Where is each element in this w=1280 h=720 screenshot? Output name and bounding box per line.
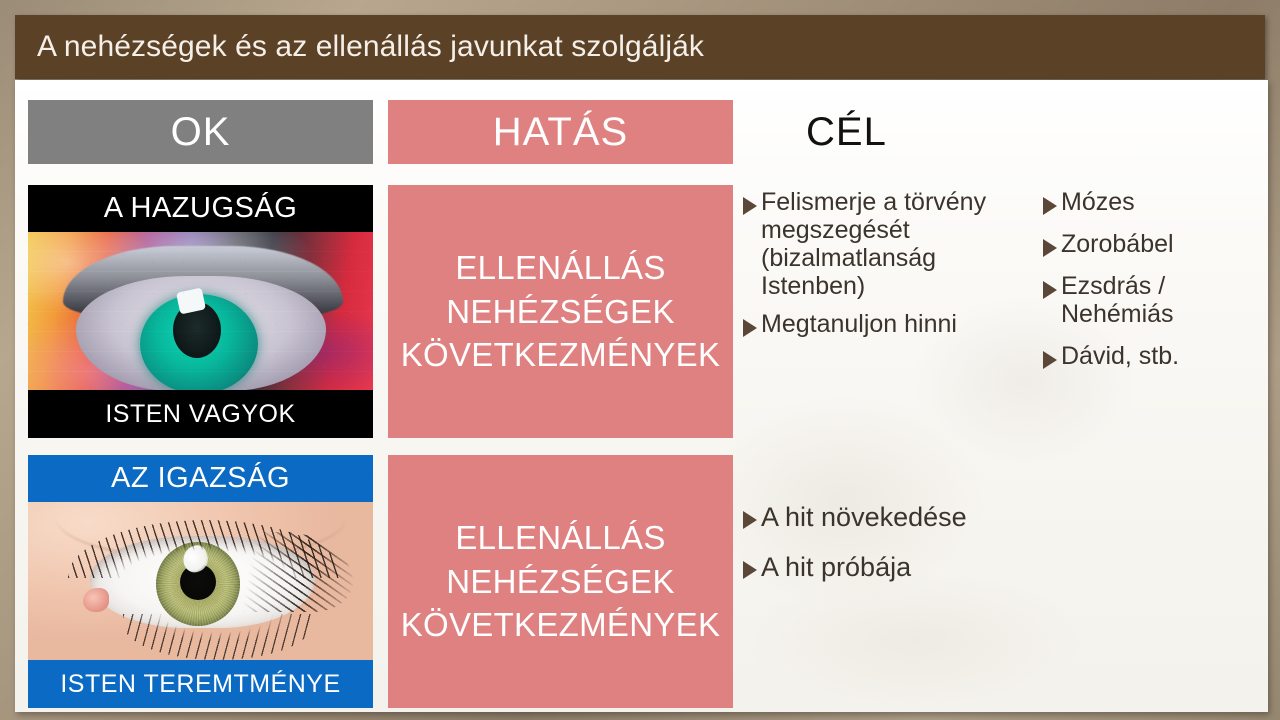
- list-item: A hit növekedése: [743, 502, 1063, 532]
- triangle-bullet-icon: [743, 319, 757, 337]
- lowpoly-eye-image: [28, 232, 373, 390]
- list-item-label: Felismerje a törvény megszegését (bizalm…: [761, 188, 1033, 300]
- cel-primary-list-row1: Felismerje a törvény megszegését (bizalm…: [743, 188, 1033, 348]
- green-eye-photo: [28, 502, 373, 660]
- column-header-hatas: HATÁS: [388, 100, 733, 164]
- triangle-bullet-icon: [743, 561, 757, 579]
- column-header-ok: OK: [28, 100, 373, 164]
- hatas-card-text: ELLENÁLLÁS NEHÉZSÉGEK KÖVETKEZMÉNYEK: [388, 246, 733, 377]
- list-item: Megtanuljon hinni: [743, 310, 1033, 338]
- list-item-label: Zorobábel: [1061, 230, 1174, 258]
- ok-card-title: AZ IGAZSÁG: [28, 455, 373, 502]
- list-item-label: A hit próbája: [761, 552, 911, 582]
- list-item: Ezsdrás / Nehémiás: [1043, 272, 1265, 328]
- column-header-cel-label: CÉL: [806, 112, 887, 152]
- triangle-bullet-icon: [1043, 281, 1057, 299]
- list-item: A hit próbája: [743, 552, 1063, 582]
- hatas-card-text: ELLENÁLLÁS NEHÉZSÉGEK KÖVETKEZMÉNYEK: [388, 516, 733, 647]
- triangle-bullet-icon: [743, 197, 757, 215]
- triangle-bullet-icon: [1043, 197, 1057, 215]
- list-item-label: Ezsdrás / Nehémiás: [1061, 272, 1174, 328]
- hatas-card-row1: ELLENÁLLÁS NEHÉZSÉGEK KÖVETKEZMÉNYEK: [388, 185, 733, 438]
- list-item-label: Dávid, stb.: [1061, 342, 1179, 370]
- triangle-bullet-icon: [743, 511, 757, 529]
- cel-secondary-list-row1: Mózes Zorobábel Ezsdrás / Nehémiás Dávid…: [1043, 188, 1265, 384]
- ok-card-title: A HAZUGSÁG: [28, 185, 373, 232]
- ok-card-caption: ISTEN VAGYOK: [28, 390, 373, 438]
- cel-primary-list-row2: A hit növekedése A hit próbája: [743, 502, 1063, 602]
- list-item: Felismerje a törvény megszegését (bizalm…: [743, 188, 1033, 300]
- ok-card-caption: ISTEN TEREMTMÉNYE: [28, 660, 373, 708]
- list-item-label: Megtanuljon hinni: [761, 310, 957, 338]
- slide-title-bar: A nehézségek és az ellenállás javunkat s…: [15, 15, 1265, 79]
- list-item: Dávid, stb.: [1043, 342, 1265, 370]
- column-header-ok-label: OK: [171, 112, 231, 152]
- hatas-card-row2: ELLENÁLLÁS NEHÉZSÉGEK KÖVETKEZMÉNYEK: [388, 455, 733, 708]
- ok-card-hazugsag: A HAZUGSÁG ISTEN VAGYOK: [28, 185, 373, 438]
- triangle-bullet-icon: [1043, 351, 1057, 369]
- list-item-label: A hit növekedése: [761, 502, 967, 532]
- list-item: Zorobábel: [1043, 230, 1265, 258]
- triangle-bullet-icon: [1043, 239, 1057, 257]
- slide-content-panel: OK HATÁS CÉL A HAZUGSÁG ISTEN VAGYOK ELL…: [15, 80, 1268, 712]
- page-title: A nehézségek és az ellenállás javunkat s…: [37, 30, 704, 64]
- list-item: Mózes: [1043, 188, 1265, 216]
- column-header-cel: CÉL: [748, 100, 1008, 164]
- column-header-hatas-label: HATÁS: [493, 112, 628, 152]
- ok-card-igazsag: AZ IGAZSÁG ISTEN TEREMTMÉNYE: [28, 455, 373, 708]
- list-item-label: Mózes: [1061, 188, 1135, 216]
